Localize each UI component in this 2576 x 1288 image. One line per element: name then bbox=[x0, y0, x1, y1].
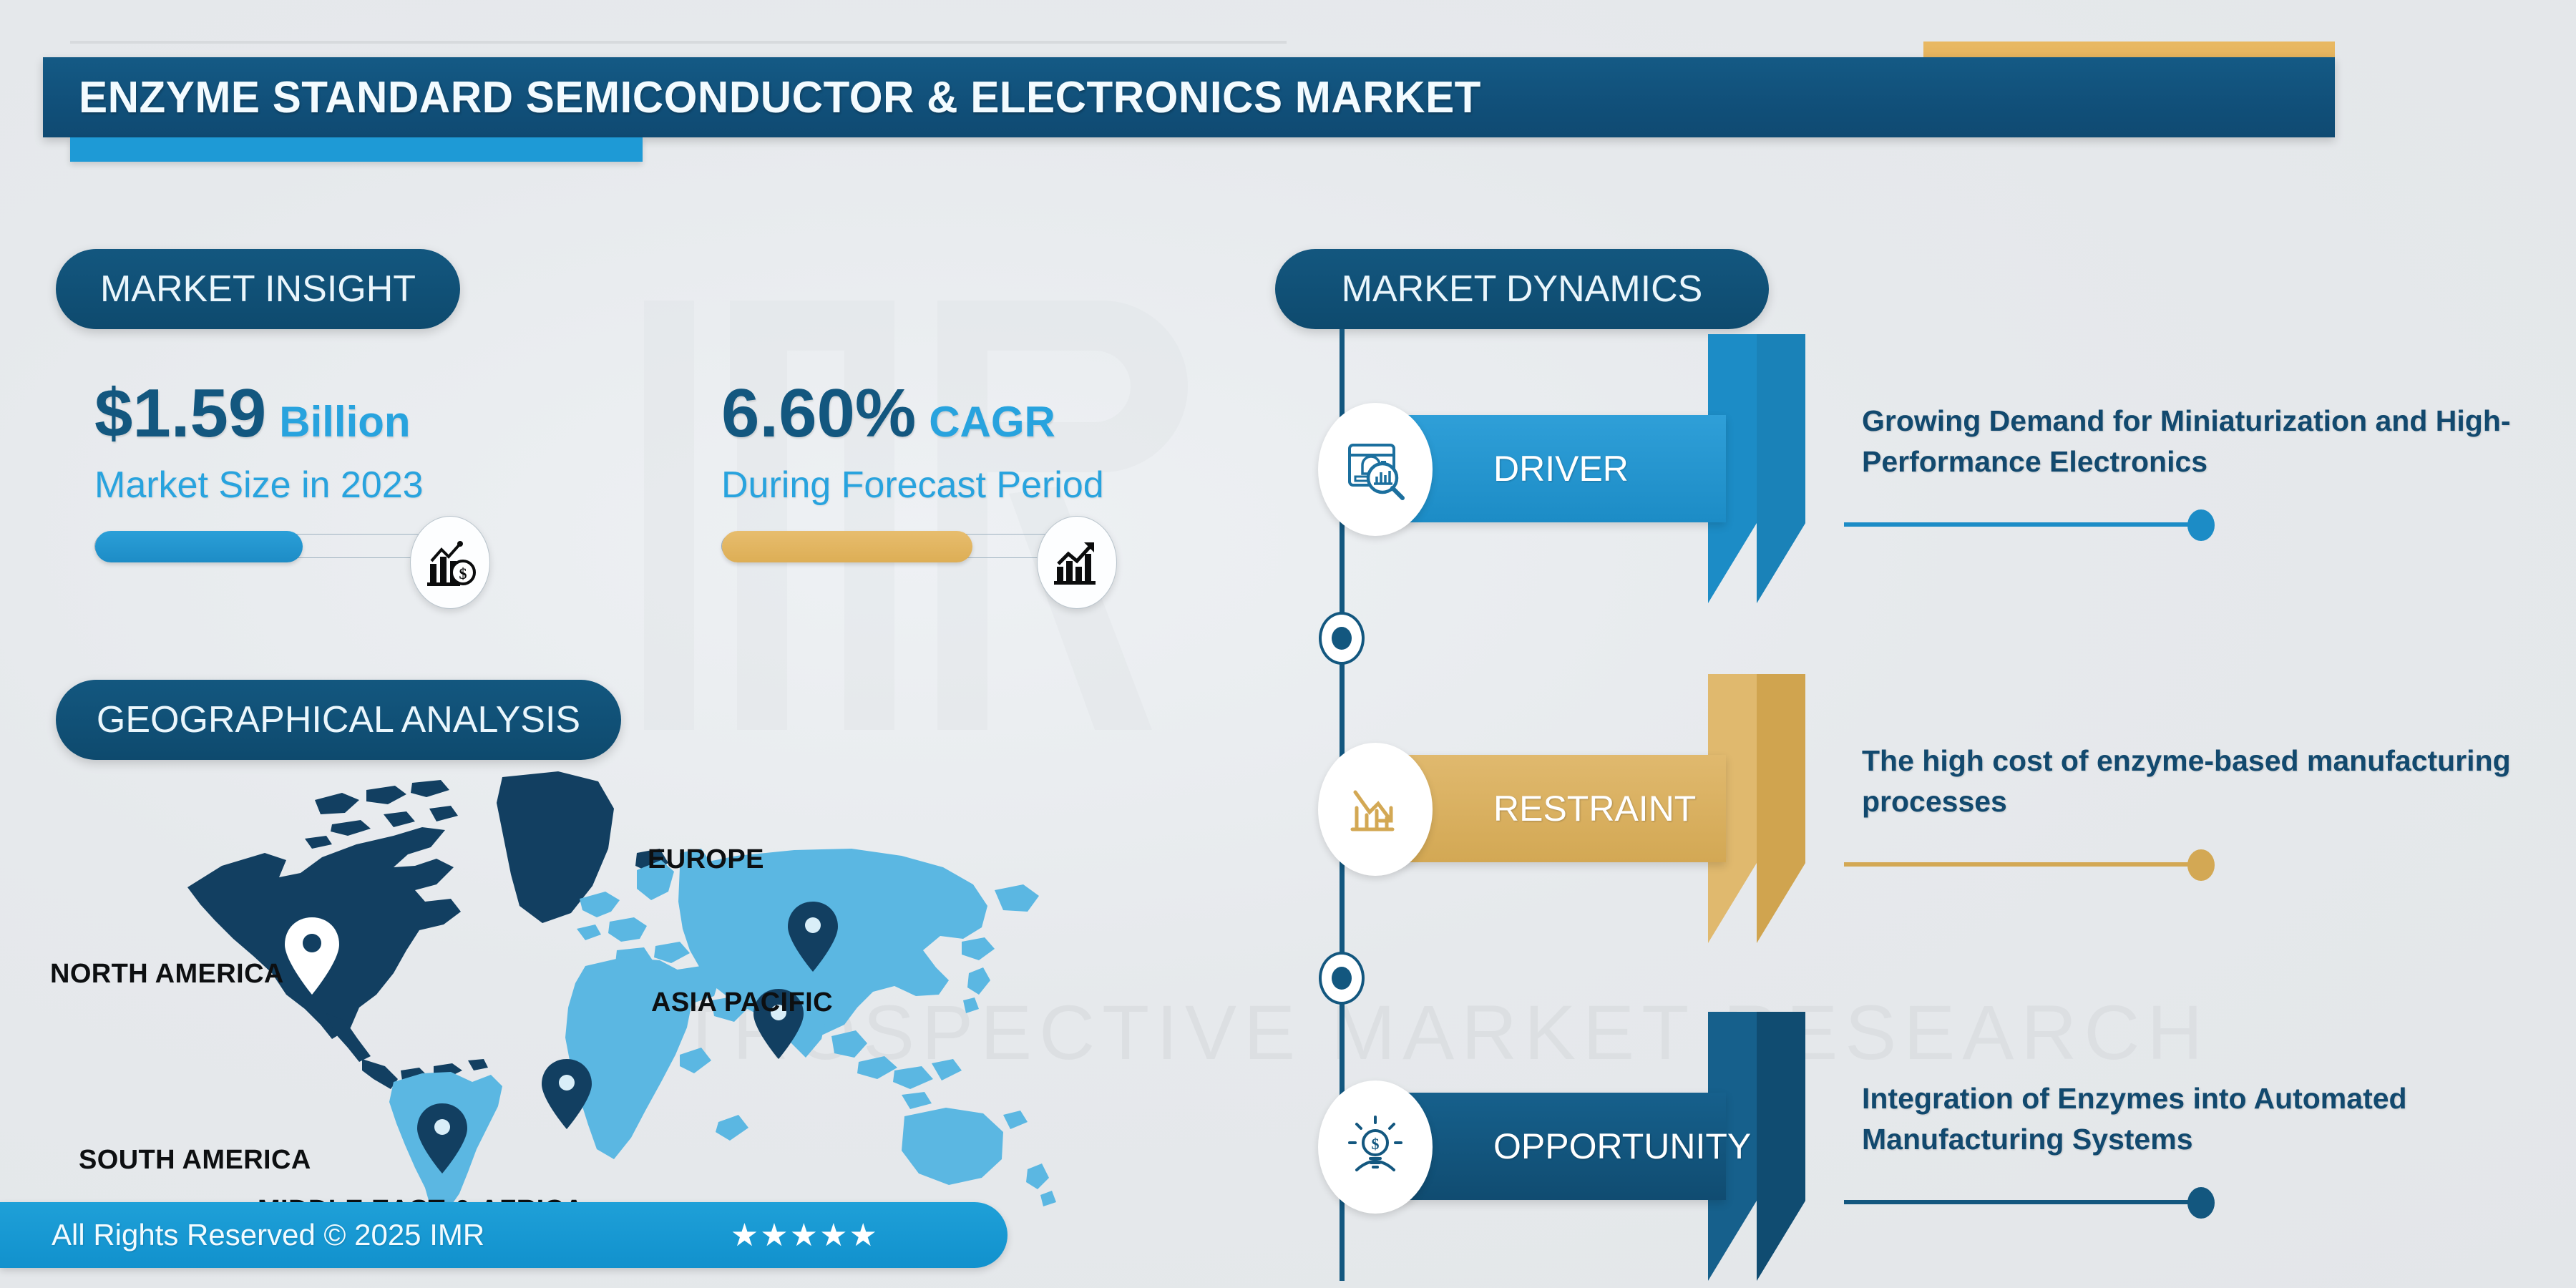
footer-bar: All Rights Reserved © 2025 IMR ★★★★★ bbox=[0, 1202, 1008, 1268]
world-map-svg bbox=[179, 758, 1109, 1216]
opportunity-end-dot bbox=[2187, 1187, 2215, 1219]
page-title: ENZYME STANDARD SEMICONDUCTOR & ELECTRON… bbox=[79, 72, 1481, 123]
driver-underline bbox=[1844, 522, 2202, 527]
growth-arrow-chart-icon bbox=[1037, 516, 1117, 609]
infographic-canvas: INTROSPECTIVE MARKET RESEARCH ENZYME STA… bbox=[0, 0, 2576, 1288]
opportunity-description: Integration of Enzymes into Automated Ma… bbox=[1862, 1078, 2549, 1159]
opportunity-ribbon: $ OPPORTUNITY bbox=[1340, 1093, 1726, 1200]
restraint-ribbon: RESTRAINT bbox=[1340, 755, 1726, 862]
section-header-market-insight: MARKET INSIGHT bbox=[56, 249, 460, 329]
world-map: NORTH AMERICA SOUTH AMERICA EUROPE ASIA … bbox=[179, 758, 1109, 1216]
title-bar: ENZYME STANDARD SEMICONDUCTOR & ELECTRON… bbox=[43, 57, 2335, 137]
map-label-north-america: NORTH AMERICA bbox=[50, 959, 284, 990]
section-header-market-dynamics: MARKET DYNAMICS bbox=[1275, 249, 1769, 329]
kpi-market-size-value-row: $1.59 Billion bbox=[94, 379, 445, 448]
copyright-text: All Rights Reserved © 2025 IMR bbox=[52, 1218, 484, 1252]
kpi-cagr-value-row: 6.60% CAGR bbox=[721, 379, 1104, 448]
kpi-cagr-caption: During Forecast Period bbox=[721, 464, 1104, 507]
lightbulb-dollar-icon: $ bbox=[1318, 1080, 1433, 1214]
kpi-market-size-unit: Billion bbox=[279, 401, 410, 444]
geographical-analysis-label: GEOGRAPHICAL ANALYSIS bbox=[97, 698, 580, 741]
rating-stars: ★★★★★ bbox=[731, 1217, 879, 1254]
map-label-asia-pacific: ASIA PACIFIC bbox=[651, 987, 833, 1018]
restraint-type-label: RESTRAINT bbox=[1493, 788, 1696, 829]
restraint-underline bbox=[1844, 862, 2202, 867]
driver-description: Growing Demand for Miniaturization and H… bbox=[1862, 401, 2549, 482]
svg-text:$: $ bbox=[1372, 1135, 1380, 1153]
svg-text:$: $ bbox=[459, 565, 467, 582]
timeline-node-1 bbox=[1319, 612, 1365, 665]
driver-type-label: DRIVER bbox=[1493, 448, 1629, 489]
opportunity-underline bbox=[1844, 1200, 2202, 1204]
kpi-cagr-progress-fill bbox=[722, 531, 972, 562]
driver-end-dot bbox=[2187, 509, 2215, 541]
kpi-cagr: 6.60% CAGR During Forecast Period bbox=[721, 379, 1104, 558]
driver-ribbon: DRIVER bbox=[1340, 415, 1726, 522]
kpi-market-size-progress-fill bbox=[95, 531, 303, 562]
map-label-south-america: SOUTH AMERICA bbox=[79, 1145, 311, 1176]
map-label-europe: EUROPE bbox=[648, 844, 764, 875]
bar-chart-dollar-icon: $ bbox=[410, 516, 490, 609]
dashboard-magnifier-icon bbox=[1318, 403, 1433, 536]
kpi-cagr-progress-track bbox=[721, 534, 1072, 558]
title-accent-underbar bbox=[70, 137, 643, 162]
kpi-cagr-unit: CAGR bbox=[929, 401, 1055, 444]
kpi-market-size: $1.59 Billion Market Size in 2023 $ bbox=[94, 379, 445, 558]
kpi-market-size-value: $1.59 bbox=[94, 379, 266, 448]
restraint-description: The high cost of enzyme-based manufactur… bbox=[1862, 741, 2549, 821]
market-dynamics-label: MARKET DYNAMICS bbox=[1342, 268, 1703, 311]
restraint-end-dot bbox=[2187, 849, 2215, 881]
timeline-node-2 bbox=[1319, 952, 1365, 1005]
map-pin-middle-east-africa bbox=[542, 1059, 592, 1129]
title-top-rule bbox=[70, 41, 1287, 44]
market-insight-label: MARKET INSIGHT bbox=[100, 268, 416, 311]
kpi-market-size-caption: Market Size in 2023 bbox=[94, 464, 445, 507]
declining-bar-chart-icon bbox=[1318, 743, 1433, 876]
kpi-market-size-progress-track: $ bbox=[94, 534, 445, 558]
kpi-cagr-value: 6.60% bbox=[721, 379, 916, 448]
opportunity-type-label: OPPORTUNITY bbox=[1493, 1126, 1751, 1167]
section-header-geographical-analysis: GEOGRAPHICAL ANALYSIS bbox=[56, 680, 621, 760]
